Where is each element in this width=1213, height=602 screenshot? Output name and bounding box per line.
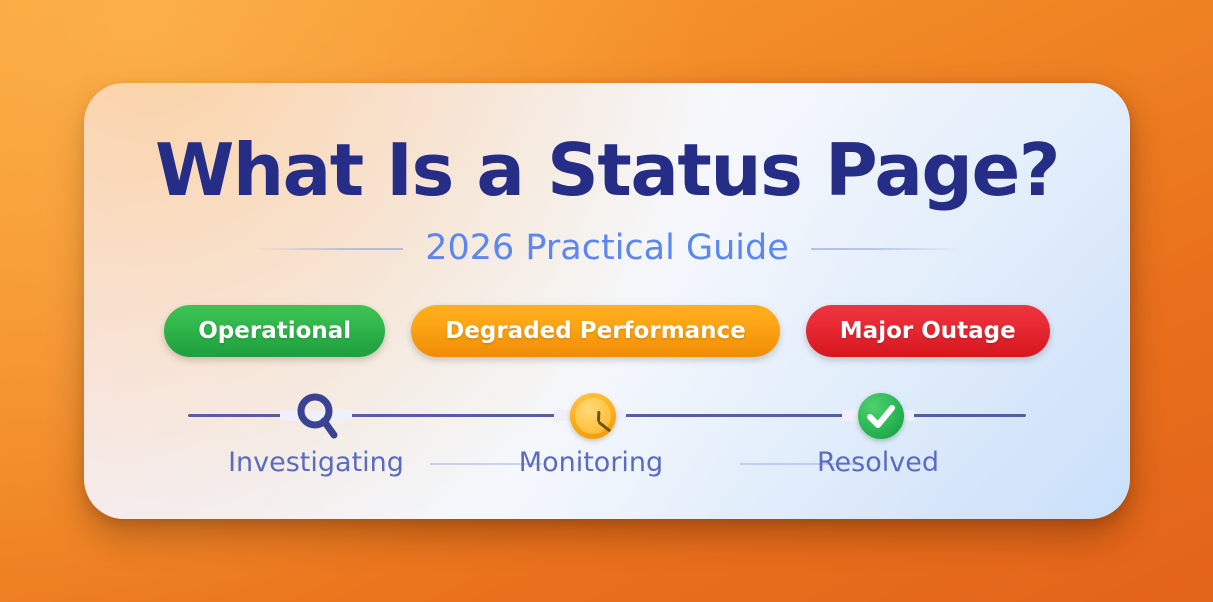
status-badge-major-outage[interactable]: Major Outage [806, 305, 1050, 357]
timeline-step-monitoring[interactable] [558, 389, 622, 445]
clock-hand-minute [598, 421, 612, 433]
page-title: What Is a Status Page? [84, 134, 1130, 206]
check-mark-glyph [858, 393, 904, 439]
clock-icon [570, 393, 616, 439]
status-badge-operational[interactable]: Operational [164, 305, 385, 357]
page-background: What Is a Status Page? 2026 Practical Gu… [0, 0, 1213, 602]
timeline-label-investigating: Investigating [206, 447, 426, 478]
timeline-label-resolved: Resolved [778, 447, 978, 478]
status-pill-row: Operational Degraded Performance Major O… [84, 305, 1130, 357]
timeline-label-monitoring: Monitoring [486, 447, 696, 478]
status-page-card: What Is a Status Page? 2026 Practical Gu… [84, 83, 1130, 519]
timeline-step-investigating[interactable] [284, 389, 348, 445]
timeline-step-resolved[interactable] [846, 389, 910, 445]
incident-timeline: Investigating Monitoring Resolved [188, 379, 1026, 489]
status-badge-degraded-performance[interactable]: Degraded Performance [411, 305, 780, 357]
check-circle-icon [858, 393, 904, 439]
clock-face [575, 398, 611, 434]
subtitle-row: 2026 Practical Guide [84, 231, 1130, 266]
subtitle-rule-left [253, 248, 403, 250]
magnifier-icon [296, 392, 340, 442]
page-subtitle: 2026 Practical Guide [425, 231, 789, 266]
subtitle-rule-right [811, 248, 961, 250]
